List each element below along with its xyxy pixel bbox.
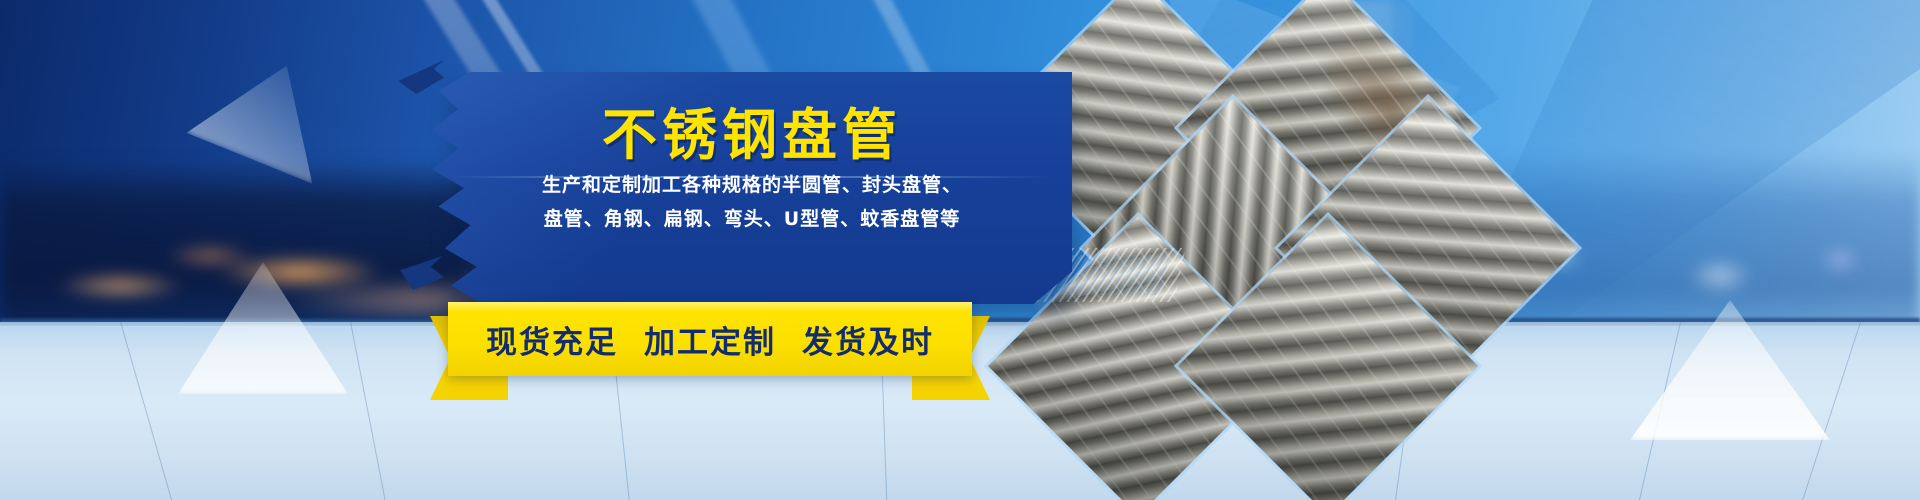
ribbon-text-group: 现货充足 加工定制 发货及时 <box>448 302 972 376</box>
subtitle-line-1: 生产和定制加工各种规格的半圆管、封头盘管、 <box>432 168 1072 202</box>
promo-banner: 不锈钢盘管 生产和定制加工各种规格的半圆管、封头盘管、 盘管、角钢、扁钢、弯头、… <box>0 0 1920 500</box>
glow-triangle-right <box>1630 300 1830 440</box>
subtitle-line-2: 盘管、角钢、扁钢、弯头、U型管、蚊香盘管等 <box>432 202 1072 236</box>
page-title: 不锈钢盘管 <box>432 90 1072 170</box>
features-ribbon: 现货充足 加工定制 发货及时 <box>430 302 990 394</box>
glow-triangle-left <box>178 262 348 394</box>
ribbon-item-custom: 加工定制 <box>644 317 776 362</box>
ribbon-item-stock: 现货充足 <box>486 317 618 362</box>
ribbon-item-shipping: 发货及时 <box>802 317 934 362</box>
subtitle: 生产和定制加工各种规格的半圆管、封头盘管、 盘管、角钢、扁钢、弯头、U型管、蚊香… <box>432 168 1072 236</box>
